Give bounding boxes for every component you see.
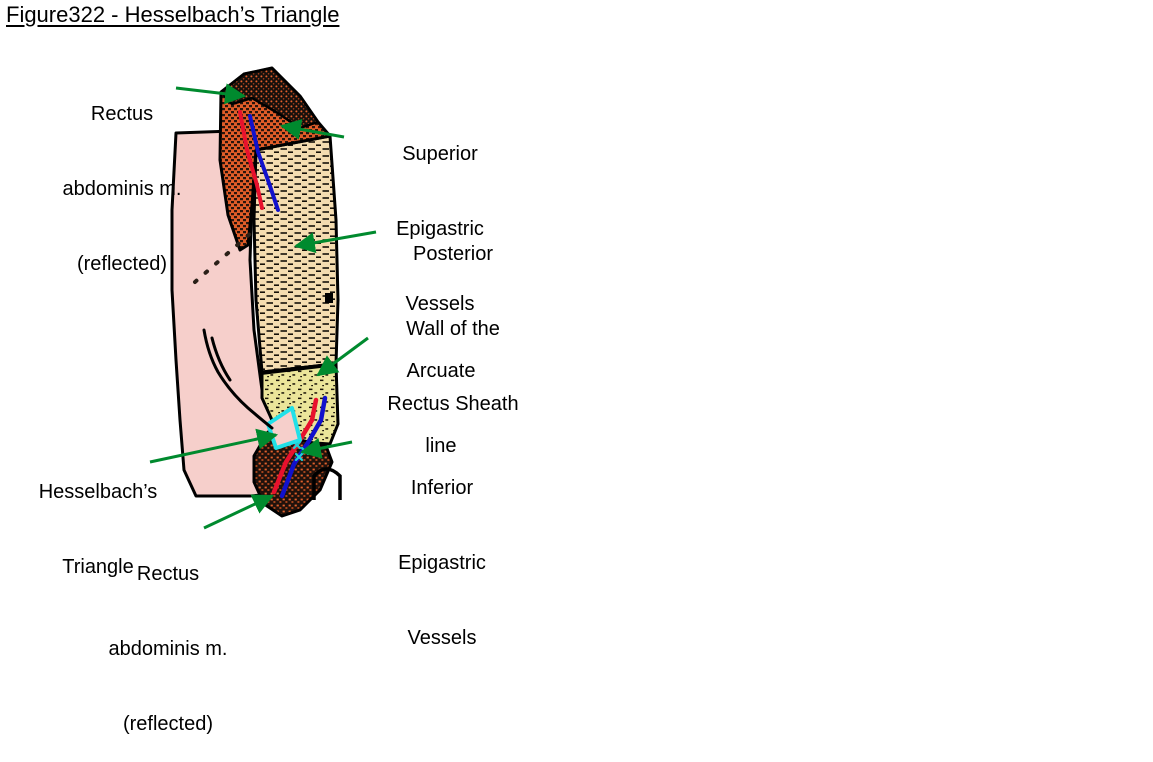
label-line: Epigastric <box>352 551 532 576</box>
label-rectus-abdominis-top: Rectus abdominis m. (reflected) <box>22 52 222 302</box>
rectus-abdominis-muscle-inferior <box>254 432 332 516</box>
label-line: (reflected) <box>68 712 268 737</box>
label-line: Rectus <box>22 102 222 127</box>
label-line: Inferior <box>352 476 532 501</box>
label-line: Posterior <box>358 242 548 267</box>
label-line: Rectus <box>68 562 268 587</box>
label-line: Arcuate <box>366 359 516 384</box>
label-line: abdominis m. <box>22 177 222 202</box>
sheath-notch-marker <box>325 293 333 303</box>
label-line: Superior <box>350 142 530 167</box>
label-line: Hesselbach’s <box>8 480 188 505</box>
label-line: abdominis m. <box>68 637 268 662</box>
label-inferior-epigastric-vessels: Inferior Epigastric Vessels <box>352 426 532 676</box>
label-rectus-abdominis-bottom: Rectus abdominis m. (reflected) <box>68 512 268 762</box>
label-line: (reflected) <box>22 252 222 277</box>
label-line: Vessels <box>352 626 532 651</box>
